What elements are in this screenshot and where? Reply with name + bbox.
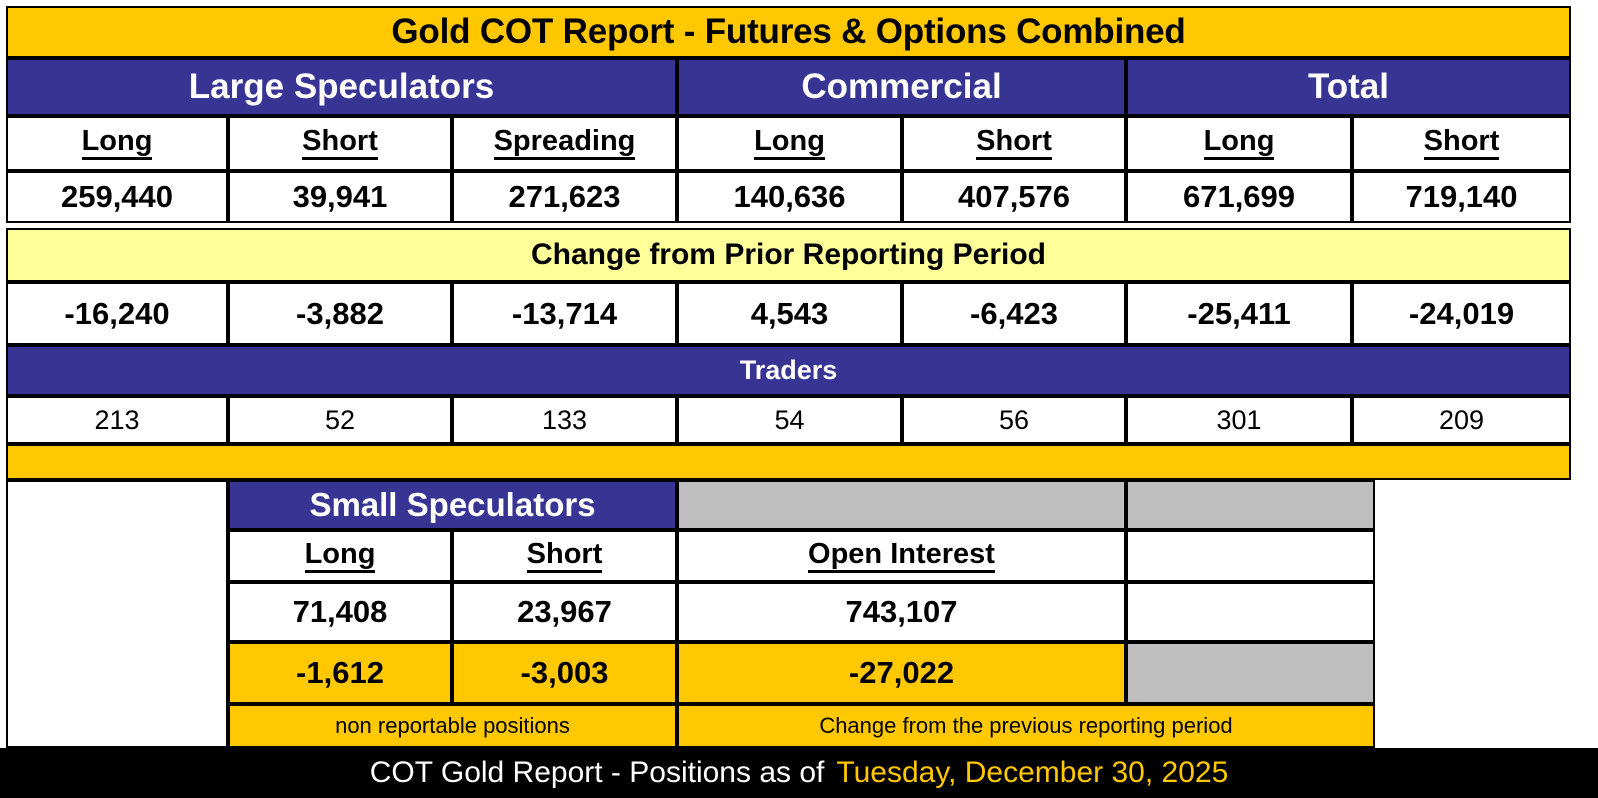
traders-total-long: 301 (1126, 396, 1352, 444)
value-ss-short: 23,967 (452, 582, 677, 642)
traders-ls-long: 213 (6, 396, 228, 444)
empty-cell-right-mid (1126, 582, 1375, 642)
value-ls-short: 39,941 (228, 171, 452, 223)
group-header-small-speculators: Small Speculators (228, 480, 677, 530)
bottom-right-empty-cell (1375, 480, 1598, 748)
change-total-long: -25,411 (1126, 282, 1352, 345)
bottom-left-empty-cell (6, 480, 228, 748)
change-ss-short: -3,003 (452, 642, 677, 704)
change-open-interest: -27,022 (677, 642, 1126, 704)
traders-band-label: Traders (6, 345, 1571, 396)
value-ss-long: 71,408 (228, 582, 452, 642)
note-change-previous-period: Change from the previous reporting perio… (677, 704, 1375, 748)
column-header-label: Open Interest (808, 540, 995, 573)
gray-filler-cell-3 (1126, 642, 1375, 704)
column-header-ss-short: Short (452, 530, 677, 582)
value-comm-short: 407,576 (902, 171, 1126, 223)
footer-date: Tuesday, December 30, 2025 (836, 756, 1228, 790)
change-ls-short: -3,882 (228, 282, 452, 345)
change-comm-long: 4,543 (677, 282, 902, 345)
traders-ls-spreading: 133 (452, 396, 677, 444)
value-total-long: 671,699 (1126, 171, 1352, 223)
gold-separator-strip (6, 444, 1571, 480)
footer-bar: COT Gold Report - Positions as of Tuesda… (0, 748, 1598, 798)
traders-total-short: 209 (1352, 396, 1571, 444)
group-header-commercial: Commercial (677, 58, 1126, 116)
change-band-label: Change from Prior Reporting Period (6, 228, 1571, 282)
traders-comm-short: 56 (902, 396, 1126, 444)
change-ls-spreading: -13,714 (452, 282, 677, 345)
value-open-interest: 743,107 (677, 582, 1126, 642)
group-header-total: Total (1126, 58, 1571, 116)
column-header-comm-short: Short (902, 116, 1126, 171)
value-ls-long: 259,440 (6, 171, 228, 223)
traders-comm-long: 54 (677, 396, 902, 444)
change-ss-long: -1,612 (228, 642, 452, 704)
column-header-ls-short: Short (228, 116, 452, 171)
change-total-short: -24,019 (1352, 282, 1571, 345)
empty-cell-right-upper (1126, 530, 1375, 582)
change-ls-long: -16,240 (6, 282, 228, 345)
value-comm-long: 140,636 (677, 171, 902, 223)
column-header-ss-long: Long (228, 530, 452, 582)
column-header-label: Short (1424, 127, 1500, 160)
column-header-total-long: Long (1126, 116, 1352, 171)
column-header-label: Short (976, 127, 1052, 160)
column-header-label: Long (754, 127, 825, 160)
column-header-label: Long (305, 540, 376, 573)
column-header-label: Long (1204, 127, 1275, 160)
change-comm-short: -6,423 (902, 282, 1126, 345)
gray-filler-cell-2 (1126, 480, 1375, 530)
footer-text: COT Gold Report - Positions as of (370, 756, 825, 790)
value-total-short: 719,140 (1352, 171, 1571, 223)
note-non-reportable-positions: non reportable positions (228, 704, 677, 748)
column-header-label: Short (302, 127, 378, 160)
column-header-open-interest: Open Interest (677, 530, 1126, 582)
column-header-ls-spreading: Spreading (452, 116, 677, 171)
column-header-label: Spreading (494, 127, 636, 160)
column-header-label: Long (82, 127, 153, 160)
column-header-label: Short (527, 540, 603, 573)
cot-report: Gold COT Report - Futures & Options Comb… (0, 0, 1598, 798)
value-ls-spreading: 271,623 (452, 171, 677, 223)
column-header-comm-long: Long (677, 116, 902, 171)
column-header-total-short: Short (1352, 116, 1571, 171)
traders-ls-short: 52 (228, 396, 452, 444)
group-header-large-speculators: Large Speculators (6, 58, 677, 116)
report-title: Gold COT Report - Futures & Options Comb… (6, 6, 1571, 58)
gray-filler-cell-1 (677, 480, 1126, 530)
column-header-ls-long: Long (6, 116, 228, 171)
